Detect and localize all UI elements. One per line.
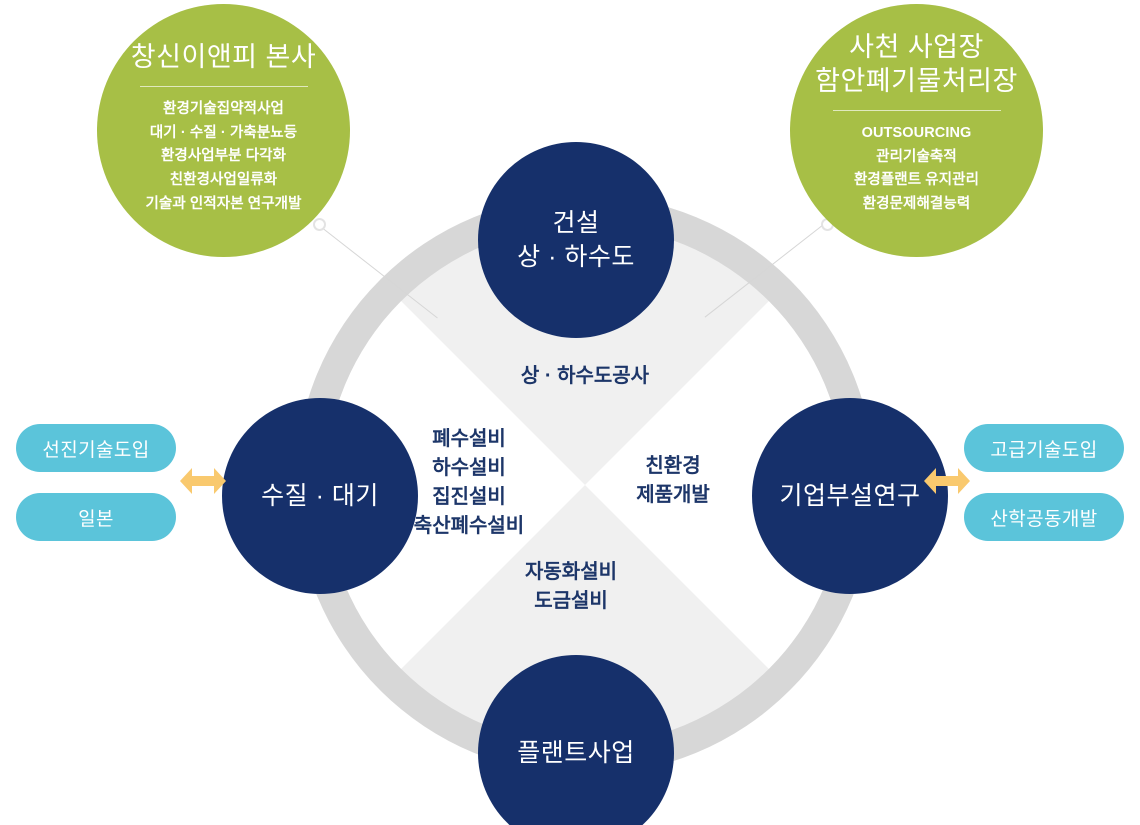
double-arrow-icon-left — [180, 464, 226, 498]
node-right-label: 기업부설연구 — [779, 479, 920, 514]
node-top-label: 건설 상 · 하수도 — [517, 206, 635, 275]
quadrant-label-bottom: 자동화설비 도금설비 — [525, 558, 617, 616]
diagram-canvas: 상 · 하수도공사 폐수설비 하수설비 집진설비 축산폐수설비 친환경 제품개발… — [0, 0, 1140, 825]
quadrant-label-top: 상 · 하수도공사 — [521, 362, 649, 391]
bubble-left-items: 환경기술집약적사업 대기 · 수질 · 가축분뇨등 환경사업부분 다각화 친환경… — [145, 98, 301, 216]
node-construction-water[interactable]: 건설 상 · 하수도 — [478, 142, 674, 338]
bubble-right-items: OUTSOURCING 관리기술축적 환경플랜트 유지관리 환경문제해결능력 — [854, 122, 979, 217]
quadrant-label-left: 폐수설비 하수설비 집진설비 축산폐수설비 — [414, 425, 524, 541]
bubble-left-title: 창신이앤피 본사 — [131, 40, 316, 74]
node-water-air[interactable]: 수질 · 대기 — [222, 398, 418, 594]
tag-advanced-tech-introduction[interactable]: 선진기술도입 — [16, 424, 176, 472]
node-bottom-label: 플랜트사업 — [517, 736, 635, 771]
double-arrow-icon-right — [924, 464, 970, 498]
bubble-left-divider — [140, 86, 308, 87]
quadrant-label-right: 친환경 제품개발 — [636, 452, 710, 510]
tag-right-top-label: 고급기술도입 — [990, 435, 1097, 462]
connector-dot-left — [313, 218, 326, 231]
tag-left-top-label: 선진기술도입 — [42, 435, 149, 462]
node-corporate-research[interactable]: 기업부설연구 — [752, 398, 948, 594]
bubble-headquarters[interactable]: 창신이앤피 본사 환경기술집약적사업 대기 · 수질 · 가축분뇨등 환경사업부… — [97, 4, 350, 257]
tag-right-bottom-label: 산학공동개발 — [990, 504, 1097, 531]
tag-high-end-tech-introduction[interactable]: 고급기술도입 — [964, 424, 1124, 472]
tag-japan[interactable]: 일본 — [16, 493, 176, 541]
bubble-right-title: 사천 사업장 함안폐기물처리장 — [815, 30, 1018, 98]
tag-left-bottom-label: 일본 — [78, 504, 114, 531]
bubble-sacheon-haman-site[interactable]: 사천 사업장 함안폐기물처리장 OUTSOURCING 관리기술축적 환경플랜트… — [790, 4, 1043, 257]
node-left-label: 수질 · 대기 — [261, 479, 379, 514]
bubble-right-divider — [833, 110, 1001, 111]
tag-industry-academy-codevelopment[interactable]: 산학공동개발 — [964, 493, 1124, 541]
